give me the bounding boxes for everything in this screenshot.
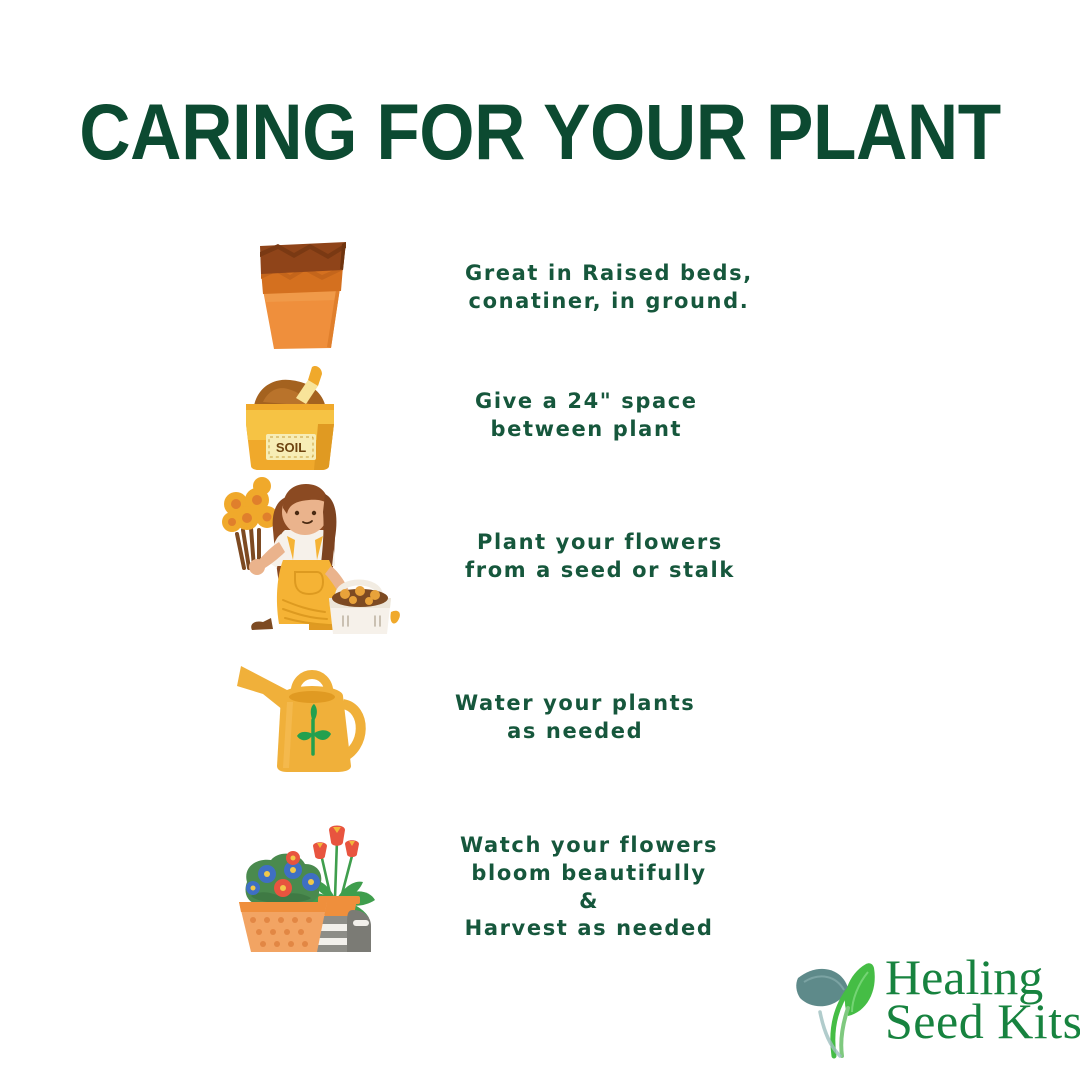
- step-row-blooming: Watch your flowers bloom beautifully & H…: [225, 820, 930, 955]
- step-text-line: Great in Raised beds,: [465, 260, 753, 288]
- potted-flowers-icon: [225, 820, 405, 955]
- soil-label-text: SOIL: [276, 440, 306, 455]
- watering-can-icon: [225, 650, 390, 785]
- step-text-soil: Give a 24" space between plant: [475, 388, 698, 444]
- step-text-line: Plant your flowers: [465, 529, 735, 557]
- step-text-pots: Great in Raised beds, conatiner, in grou…: [465, 260, 753, 316]
- step-row-soil: SOIL Give a 24" space between plant: [230, 358, 930, 473]
- poster-canvas: CARING FOR YOUR PLANT Great in Raised be…: [0, 0, 1080, 1080]
- step-text-planting: Plant your flowers from a seed or stalk: [465, 529, 735, 585]
- step-row-watering: Water your plants as needed: [225, 650, 930, 785]
- gardener-woman-icon: [205, 472, 410, 642]
- step-text-line: bloom beautifully: [460, 860, 718, 888]
- step-text-line: Watch your flowers: [460, 832, 718, 860]
- step-text-watering: Water your plants as needed: [455, 690, 695, 746]
- step-row-pots: Great in Raised beds, conatiner, in grou…: [230, 218, 930, 358]
- brand-wordmark: Healing Seed Kits: [885, 954, 1080, 1045]
- soil-bag-icon: SOIL: [230, 358, 350, 473]
- stacked-terracotta-pots-icon: [230, 218, 370, 358]
- step-text-line: Harvest as needed: [460, 915, 718, 943]
- step-text-line: as needed: [455, 718, 695, 746]
- brand-line-2: Seed Kits: [885, 998, 1080, 1046]
- step-text-line: between plant: [475, 416, 698, 444]
- step-row-planting: Plant your flowers from a seed or stalk: [205, 472, 930, 642]
- step-text-blooming: Watch your flowers bloom beautifully & H…: [460, 832, 718, 944]
- step-text-line: &: [460, 888, 718, 916]
- two-leaves-icon: [790, 952, 890, 1060]
- step-text-line: Give a 24" space: [475, 388, 698, 416]
- page-title: CARING FOR YOUR PLANT: [54, 92, 1026, 171]
- step-text-line: conatiner, in ground.: [465, 288, 753, 316]
- brand-logo[interactable]: Healing Seed Kits: [790, 952, 1065, 1064]
- step-text-line: from a seed or stalk: [465, 557, 735, 585]
- step-text-line: Water your plants: [455, 690, 695, 718]
